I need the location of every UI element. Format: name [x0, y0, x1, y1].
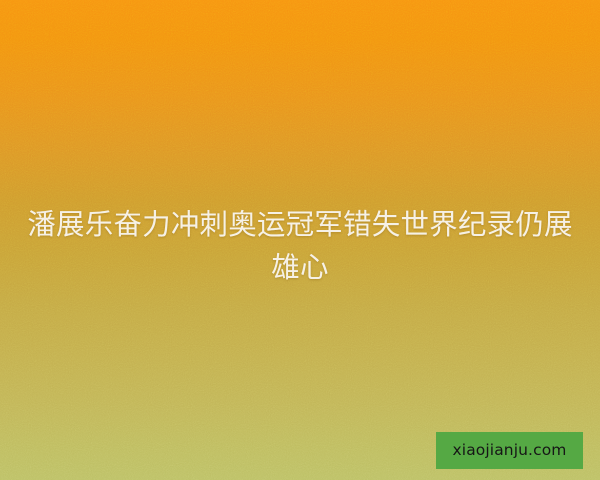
- watermark-label: xiaojianju.com: [453, 443, 567, 459]
- headline-text: 潘展乐奋力冲刺奥运冠军错失世界纪录仍展雄心: [22, 203, 578, 289]
- watermark-badge: xiaojianju.com: [436, 432, 583, 469]
- image-canvas: 潘展乐奋力冲刺奥运冠军错失世界纪录仍展雄心 xiaojianju.com: [0, 0, 600, 480]
